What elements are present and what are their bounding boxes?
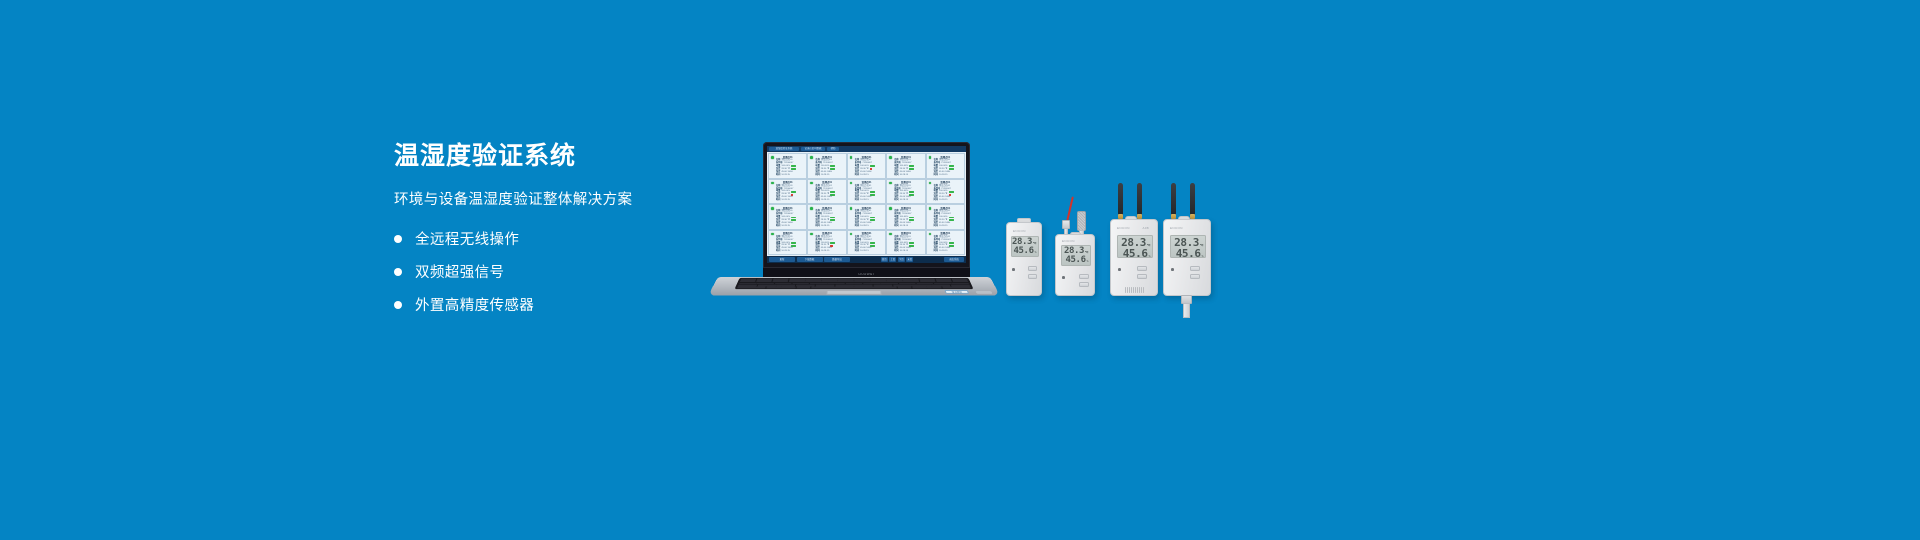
- laptop-product-image: 温湿度验证系统 记录仪实时数据 帮助 监测点01名称测试点位01系列号71200…: [718, 142, 990, 298]
- online-status-dot: [929, 207, 932, 210]
- antenna-right: [1190, 183, 1195, 216]
- banner-subtitle: 环境与设备温湿度验证整体解决方案: [394, 188, 724, 209]
- online-status-dot: [810, 156, 813, 159]
- status-badge-ok: [949, 165, 954, 167]
- status-badge-ok: [830, 165, 835, 167]
- monitoring-card[interactable]: 监测点01名称测试点位01系列号71200007电量100.00%温度28.30…: [886, 230, 925, 256]
- row-value: 10:28:15: [939, 199, 948, 202]
- monitoring-card-title: 监测点01: [809, 232, 844, 235]
- monitoring-card-rows: 名称测试点位01系列号71200007电量100.00%温度28.30 ℃湿度4…: [809, 210, 844, 227]
- laptop-base: 证书标识: [708, 277, 1000, 296]
- tab-system[interactable]: 温湿度验证系统: [769, 147, 799, 151]
- monitoring-card-row: 时间10:28:15: [934, 225, 963, 228]
- device-brand-label: ENCON: [1062, 239, 1075, 243]
- page-title: 温湿度验证系统: [394, 141, 724, 171]
- device-led-indicator: [1171, 268, 1174, 271]
- row-label: 时间: [934, 174, 938, 177]
- monitoring-card-row: 时间10:28:15: [776, 174, 805, 177]
- page-last-button[interactable]: 末页: [906, 257, 913, 262]
- row-value: 10:28:15: [781, 250, 790, 253]
- monitoring-card-row: 时间10:28:15: [855, 225, 884, 228]
- status-badge-ok: [830, 242, 835, 244]
- device-wall-mount-recorder: ENCON 28.3 ℃ 45.6 % %RH: [1006, 218, 1042, 296]
- laptop-lid: 温湿度验证系统 记录仪实时数据 帮助 监测点01名称测试点位01系列号71200…: [763, 142, 970, 268]
- lcd-humidity-unit: %: [1087, 260, 1088, 263]
- keyboard-key[interactable]: [737, 287, 766, 289]
- row-value: 10:28:15: [860, 199, 869, 202]
- row-value: 10:28:15: [860, 225, 869, 228]
- monitoring-card-row: 时间10:28:15: [934, 250, 963, 253]
- device-led-indicator: [1062, 276, 1065, 279]
- device-antenna-probe-recorder: ENCON 28.3 ℃ 45.6 % %RH: [1163, 183, 1213, 318]
- row-label: 时间: [776, 250, 780, 253]
- lcd-humidity-line: 45.6 %: [1014, 247, 1036, 256]
- row-label: 时间: [815, 199, 819, 202]
- monitoring-card-row: 时间10:28:15: [855, 174, 884, 177]
- laptop-trackpad: [826, 290, 882, 295]
- monitoring-card[interactable]: 监测点01名称测试点位01系列号71200007电量100.00%温度28.30…: [807, 230, 846, 256]
- keyboard-key[interactable]: [912, 287, 927, 289]
- lcd-humidity-value: 45.6: [1066, 256, 1086, 265]
- row-value: 10:28:15: [900, 174, 909, 177]
- monitoring-card-title: 监测点01: [928, 232, 963, 235]
- lcd-humidity-value: 45.6: [1014, 247, 1034, 256]
- lcd-humidity-line: 45.6 %: [1120, 248, 1150, 258]
- monitoring-card-rows: 名称测试点位01系列号71200007电量100.00%温度28.30 ℃湿度4…: [888, 185, 923, 202]
- row-value: 10:28:15: [939, 225, 948, 228]
- device-led-indicator: [1012, 268, 1015, 271]
- device-brand-label: ENCON: [1117, 226, 1130, 230]
- device-led-indicator: [1118, 268, 1121, 271]
- row-label: 时间: [855, 174, 859, 177]
- monitoring-card-title: 监测点01: [770, 181, 805, 184]
- device-vent-grill: [1125, 287, 1144, 293]
- monitoring-card[interactable]: 监测点01名称测试点位01系列号71200007电量100.00%温度28.30…: [768, 179, 807, 205]
- keyboard-key[interactable]: [781, 287, 796, 289]
- device-body: ENCON 28.3 ℃ 45.6 % %RH: [1055, 234, 1095, 296]
- device-brand-label: ENCON: [1013, 229, 1026, 233]
- device-model-label: A08: [1142, 226, 1149, 230]
- antenna-left: [1171, 183, 1176, 216]
- feature-list: 全远程无线操作 双频超强信号 外置高精度传感器: [394, 228, 724, 315]
- list-item: 外置高精度传感器: [394, 294, 724, 315]
- feature-label: 双频超强信号: [415, 261, 504, 282]
- row-value: 10:28:15: [860, 250, 869, 253]
- device-button-up[interactable]: [1028, 266, 1037, 271]
- lcd-temperature-unit: ℃: [1085, 251, 1088, 254]
- monitoring-card-title: 监测点01: [849, 232, 884, 235]
- row-label: 时间: [894, 250, 898, 253]
- row-label: 时间: [934, 225, 938, 228]
- tab-realtime-data[interactable]: 记录仪实时数据: [801, 147, 825, 151]
- row-value: 10:28:15: [939, 174, 948, 177]
- lcd-humidity-unit: %: [1202, 255, 1203, 258]
- monitoring-card-row: 时间10:28:15: [776, 199, 805, 202]
- online-status-dot: [889, 156, 892, 159]
- monitoring-card[interactable]: 监测点01名称测试点位01系列号71200007电量100.00%温度28.30…: [926, 204, 965, 230]
- export-data-button[interactable]: 数据导出: [824, 257, 850, 262]
- online-status-dot: [929, 156, 932, 159]
- monitoring-card-row: 时间10:28:15: [815, 199, 844, 202]
- monitoring-card[interactable]: 监测点01名称测试点位01系列号71200007电量100.00%温度28.30…: [926, 153, 965, 179]
- online-status-dot: [810, 233, 813, 236]
- row-value: 10:28:15: [939, 250, 948, 253]
- status-badge-ok: [791, 165, 796, 167]
- device-body: ENCON 28.3 ℃ 45.6 % %RH: [1006, 222, 1042, 296]
- monitoring-card-row: 时间10:28:15: [934, 174, 963, 177]
- online-status-dot: [810, 182, 813, 185]
- online-status-dot: [810, 207, 813, 210]
- status-badge-ok: [791, 242, 796, 244]
- monitoring-card[interactable]: 监测点01名称测试点位01系列号71200007电量100.00%温度28.30…: [807, 153, 846, 179]
- row-label: 时间: [894, 225, 898, 228]
- laptop-sticker-secondary: [975, 291, 992, 294]
- lcd-humidity-value: 45.6: [1176, 248, 1201, 258]
- device-button-down[interactable]: [1190, 274, 1200, 279]
- row-value: 10:28:15: [781, 225, 790, 228]
- device-button-up[interactable]: [1137, 266, 1147, 271]
- keyboard-key[interactable]: [942, 287, 971, 289]
- monitoring-card[interactable]: 监测点01名称测试点位01系列号71200007电量100.00%温度28.30…: [807, 204, 846, 230]
- lcd-humidity-unit-sub: %RH: [1064, 265, 1088, 266]
- monitoring-card[interactable]: 监测点01名称测试点位01系列号71200007电量100.00%温度28.30…: [807, 179, 846, 205]
- monitoring-card-rows: 名称测试点位01系列号71200007电量100.00%温度28.30 ℃湿度4…: [888, 236, 923, 253]
- page-first-button[interactable]: 首页: [881, 257, 888, 262]
- antenna-right: [1137, 183, 1142, 216]
- monitoring-card-row: 时间10:28:15: [776, 225, 805, 228]
- online-status-dot: [771, 182, 774, 185]
- feature-label: 全远程无线操作: [415, 228, 519, 249]
- keyboard-row: [737, 287, 971, 289]
- monitoring-card[interactable]: 监测点01名称测试点位01系列号71200007电量100.00%温度28.30…: [847, 179, 886, 205]
- status-badge-ok: [949, 191, 954, 193]
- monitoring-card-row: 时间10:28:15: [894, 199, 923, 202]
- page-next-button[interactable]: 下页: [898, 257, 905, 262]
- laptop-keyboard: [734, 278, 973, 289]
- row-value: 10:28:15: [900, 225, 909, 228]
- row-label: 时间: [934, 250, 938, 253]
- online-status-dot: [889, 233, 892, 236]
- row-value: 10:28:15: [781, 199, 790, 202]
- monitoring-card[interactable]: 监测点01名称测试点位01系列号71200007电量100.00%温度28.30…: [847, 230, 886, 256]
- device-lcd-display: 28.3 ℃ 45.6 % %RH: [1170, 235, 1206, 258]
- laptop-brand-label: HUAWEI: [858, 272, 874, 276]
- monitoring-card-title: 监测点01: [809, 181, 844, 184]
- row-value: 10:28:15: [821, 199, 830, 202]
- row-value: 10:28:15: [821, 250, 830, 253]
- monitoring-card[interactable]: 监测点01名称测试点位01系列号71200007电量100.00%温度28.30…: [768, 153, 807, 179]
- row-value: 10:28:15: [821, 225, 830, 228]
- monitoring-card-rows: 名称测试点位01系列号71200007电量100.00%温度28.30 ℃湿度4…: [809, 159, 844, 176]
- exit-system-button[interactable]: 退出系统: [944, 257, 964, 262]
- monitoring-card[interactable]: 监测点01名称测试点位01系列号71200007电量100.00%温度28.30…: [847, 153, 886, 179]
- monitoring-card-title: 监测点01: [849, 181, 884, 184]
- lcd-humidity-value: 45.6: [1123, 248, 1148, 258]
- monitoring-card[interactable]: 监测点01名称测试点位01系列号71200007电量100.00%温度28.30…: [886, 204, 925, 230]
- device-dual-antenna-recorder: ENCON A08 28.3 ℃ 45.6 % %RH: [1110, 183, 1160, 296]
- probe-sensor-mesh: [1077, 211, 1086, 231]
- bullet-icon: [394, 268, 402, 276]
- status-badge-ok: [949, 242, 954, 244]
- tab-help[interactable]: 帮助: [827, 147, 839, 151]
- row-label: 时间: [776, 225, 780, 228]
- lcd-humidity-unit: %: [1035, 251, 1036, 254]
- device-brand-label: ENCON: [1170, 226, 1183, 230]
- monitoring-card-rows: 名称测试点位01系列号71200007电量100.00%温度28.30 ℃湿度4…: [849, 185, 884, 202]
- monitoring-card-rows: 名称测试点位01系列号71200007电量100.00%温度28.30 ℃湿度4…: [928, 159, 963, 176]
- monitoring-card[interactable]: 监测点01名称测试点位01系列号71200007电量100.00%温度28.30…: [926, 230, 965, 256]
- monitoring-card-rows: 名称测试点位01系列号71200007电量100.00%温度28.30 ℃湿度4…: [849, 159, 884, 176]
- status-badge-ok: [909, 191, 914, 193]
- refresh-button[interactable]: 更新: [769, 257, 795, 262]
- monitoring-card-rows: 名称测试点位01系列号71200007电量100.00%温度28.30 ℃湿度4…: [770, 159, 805, 176]
- row-value: 10:28:15: [900, 199, 909, 202]
- row-value: 10:28:15: [781, 174, 790, 177]
- keyboard-key[interactable]: [811, 287, 897, 289]
- keyboard-key[interactable]: [897, 287, 912, 289]
- monitoring-card-title: 监测点01: [888, 232, 923, 235]
- probe-extension-stem: [1183, 303, 1190, 318]
- monitoring-card-rows: 名称测试点位01系列号71200007电量100.00%温度28.30 ℃湿度4…: [809, 236, 844, 253]
- status-badge-ok: [791, 191, 796, 193]
- monitoring-card-row: 时间10:28:15: [894, 174, 923, 177]
- monitoring-card-rows: 名称测试点位01系列号71200007电量100.00%温度28.30 ℃湿度4…: [888, 210, 923, 227]
- list-item: 双频超强信号: [394, 261, 724, 282]
- keyboard-key[interactable]: [796, 287, 811, 289]
- keyboard-key[interactable]: [927, 287, 942, 289]
- monitoring-card-row: 时间10:28:15: [815, 174, 844, 177]
- feature-label: 外置高精度传感器: [415, 294, 534, 315]
- monitoring-card[interactable]: 监测点01名称测试点位01系列号71200007电量100.00%温度28.30…: [926, 179, 965, 205]
- device-body: ENCON A08 28.3 ℃ 45.6 % %RH: [1110, 219, 1158, 296]
- monitoring-card-row: 时间10:28:15: [894, 225, 923, 228]
- status-badge-ok: [870, 242, 875, 244]
- online-status-dot: [771, 156, 774, 159]
- row-value: 10:28:15: [900, 250, 909, 253]
- laptop-screen: 温湿度验证系统 记录仪实时数据 帮助 监测点01名称测试点位01系列号71200…: [767, 146, 966, 263]
- row-value: 10:28:15: [860, 174, 869, 177]
- row-label: 时间: [855, 225, 859, 228]
- monitoring-card-row: 时间10:28:15: [815, 225, 844, 228]
- dashboard-bottombar: 更新 下载数据 数据导出 首页 上页 下页 末页 退出系统: [767, 256, 966, 263]
- lcd-humidity-line: 45.6 %: [1064, 256, 1088, 265]
- row-label: 时间: [815, 250, 819, 253]
- lcd-humidity-line: 45.6 %: [1173, 248, 1203, 258]
- lcd-temperature-unit: ℃: [1033, 242, 1036, 245]
- row-value: 10:28:15: [821, 174, 830, 177]
- row-label: 时间: [815, 225, 819, 228]
- monitoring-card-row: 时间10:28:15: [776, 250, 805, 253]
- status-badge-ok: [870, 165, 875, 167]
- device-lcd-display: 28.3 ℃ 45.6 % %RH: [1011, 236, 1039, 257]
- device-button-down[interactable]: [1079, 282, 1089, 287]
- monitoring-card-rows: 名称测试点位01系列号71200007电量100.00%温度28.30 ℃湿度4…: [849, 236, 884, 253]
- monitoring-card[interactable]: 监测点01名称测试点位01系列号71200007电量100.00%温度28.30…: [768, 230, 807, 256]
- monitoring-card-title: 监测点01: [888, 181, 923, 184]
- status-badge-ok: [870, 191, 875, 193]
- online-status-dot: [771, 233, 774, 236]
- device-button-down[interactable]: [1137, 274, 1147, 279]
- monitoring-card-row: 时间10:28:15: [855, 250, 884, 253]
- row-label: 时间: [776, 174, 780, 177]
- row-label: 时间: [776, 199, 780, 202]
- monitoring-card-title: 监测点01: [928, 181, 963, 184]
- status-badge-ok: [909, 165, 914, 167]
- device-external-probe-recorder: ENCON 28.3 ℃ 45.6 % %RH: [1053, 196, 1097, 296]
- row-label: 时间: [855, 199, 859, 202]
- list-item: 全远程无线操作: [394, 228, 724, 249]
- banner-text-block: 温湿度验证系统 环境与设备温湿度验证整体解决方案 全远程无线操作 双频超强信号 …: [394, 141, 724, 327]
- monitoring-card[interactable]: 监测点01名称测试点位01系列号71200007电量100.00%温度28.30…: [886, 153, 925, 179]
- monitoring-card-rows: 名称测试点位01系列号71200007电量100.00%温度28.30 ℃湿度4…: [770, 210, 805, 227]
- download-data-button[interactable]: 下载数据: [797, 257, 823, 262]
- monitoring-card-rows: 名称测试点位01系列号71200007电量100.00%温度28.30 ℃湿度4…: [770, 185, 805, 202]
- device-button-up[interactable]: [1190, 266, 1200, 271]
- row-label: 时间: [934, 199, 938, 202]
- lcd-humidity-unit: %: [1149, 255, 1150, 258]
- bullet-icon: [394, 235, 402, 243]
- monitoring-card-title: 监测点01: [770, 232, 805, 235]
- monitoring-card-rows: 名称测试点位01系列号71200007电量100.00%温度28.30 ℃湿度4…: [770, 236, 805, 253]
- lcd-humidity-unit-sub: %RH: [1014, 256, 1036, 257]
- monitoring-card-row: 时间10:28:15: [855, 199, 884, 202]
- monitoring-card-rows: 名称测试点位01系列号71200007电量100.00%温度28.30 ℃湿度4…: [928, 236, 963, 253]
- monitoring-card-grid: 监测点01名称测试点位01系列号71200007电量100.00%温度28.30…: [767, 152, 966, 256]
- monitoring-card-row: 时间10:28:15: [894, 250, 923, 253]
- monitoring-card-row: 时间10:28:15: [815, 250, 844, 253]
- monitoring-card-row: 时间10:28:15: [934, 199, 963, 202]
- antenna-left: [1118, 183, 1123, 216]
- online-status-dot: [771, 207, 774, 210]
- device-lcd-display: 28.3 ℃ 45.6 % %RH: [1117, 235, 1153, 258]
- online-status-dot: [889, 182, 892, 185]
- device-body: ENCON 28.3 ℃ 45.6 % %RH: [1163, 219, 1211, 296]
- status-badge-ok: [830, 191, 835, 193]
- keyboard-key[interactable]: [766, 287, 781, 289]
- status-badge-ok: [909, 242, 914, 244]
- probe-cable-red: [1066, 196, 1074, 222]
- monitoring-card-rows: 名称测试点位01系列号71200007电量100.00%温度28.30 ℃湿度4…: [888, 159, 923, 176]
- monitoring-card-rows: 名称测试点位01系列号71200007电量100.00%温度28.30 ℃湿度4…: [849, 210, 884, 227]
- monitoring-card-rows: 名称测试点位01系列号71200007电量100.00%温度28.30 ℃湿度4…: [928, 185, 963, 202]
- row-label: 时间: [894, 174, 898, 177]
- device-button-down[interactable]: [1028, 274, 1037, 279]
- monitoring-card[interactable]: 监测点01名称测试点位01系列号71200007电量100.00%温度28.30…: [847, 204, 886, 230]
- monitoring-card[interactable]: 监测点01名称测试点位01系列号71200007电量100.00%温度28.30…: [768, 204, 807, 230]
- device-button-up[interactable]: [1079, 274, 1089, 279]
- monitoring-card-rows: 名称测试点位01系列号71200007电量100.00%温度28.30 ℃湿度4…: [809, 185, 844, 202]
- monitoring-card-rows: 名称测试点位01系列号71200007电量100.00%温度28.30 ℃湿度4…: [928, 210, 963, 227]
- page-prev-button[interactable]: 上页: [889, 257, 896, 262]
- bullet-icon: [394, 301, 402, 309]
- row-label: 时间: [815, 174, 819, 177]
- row-label: 时间: [855, 250, 859, 253]
- row-label: 时间: [894, 199, 898, 202]
- monitoring-card[interactable]: 监测点01名称测试点位01系列号71200007电量100.00%温度28.30…: [886, 179, 925, 205]
- online-status-dot: [889, 207, 892, 210]
- device-lcd-display: 28.3 ℃ 45.6 % %RH: [1061, 245, 1091, 266]
- laptop-sticker: 证书标识: [944, 290, 969, 294]
